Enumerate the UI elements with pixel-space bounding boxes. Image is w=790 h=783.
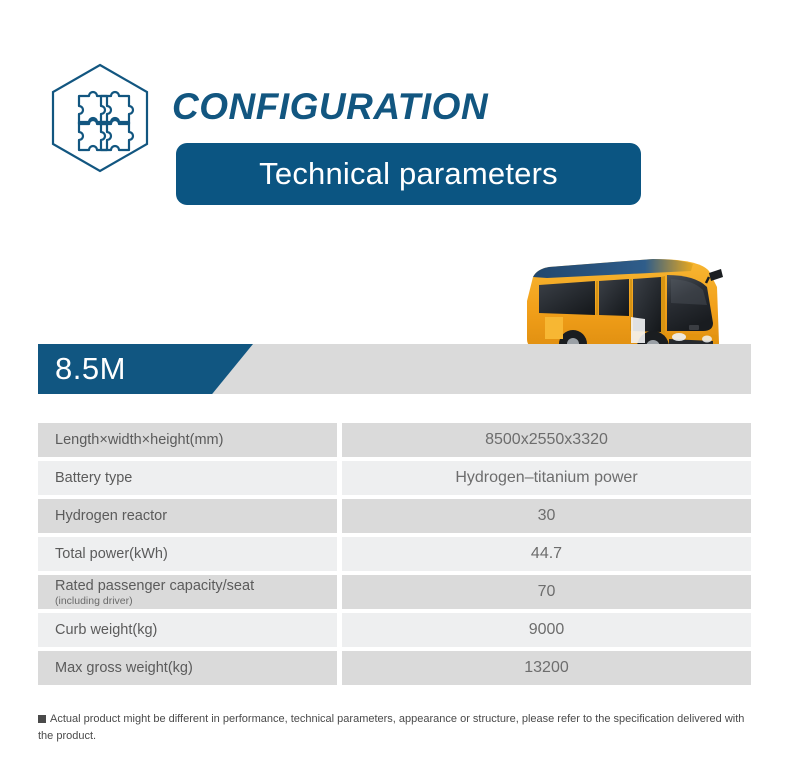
spec-sublabel: (including driver) bbox=[55, 595, 337, 607]
spec-value-cell: 44.7 bbox=[342, 537, 751, 575]
header: CONFIGURATION Technical parameters bbox=[0, 0, 790, 230]
spec-label-cell: Hydrogen reactor bbox=[38, 499, 342, 537]
table-row: Max gross weight(kg) 13200 bbox=[38, 651, 751, 685]
table-row: Rated passenger capacity/seat (including… bbox=[38, 575, 751, 613]
spec-label: Rated passenger capacity/seat bbox=[55, 578, 254, 594]
spec-label-cell: Battery type bbox=[38, 461, 342, 499]
spec-value-cell: 8500x2550x3320 bbox=[342, 423, 751, 461]
spec-value: 30 bbox=[538, 507, 556, 524]
spec-label: Hydrogen reactor bbox=[55, 508, 167, 524]
puzzle-hexagon-icon bbox=[48, 62, 152, 174]
spec-label-cell: Total power(kWh) bbox=[38, 537, 342, 575]
spec-label: Curb weight(kg) bbox=[55, 622, 157, 638]
table-row: Length×width×height(mm) 8500x2550x3320 bbox=[38, 423, 751, 461]
spec-label: Max gross weight(kg) bbox=[55, 660, 193, 676]
spec-value-cell: 13200 bbox=[342, 651, 751, 685]
model-tag: 8.5M bbox=[38, 344, 253, 394]
spec-value-cell: 70 bbox=[342, 575, 751, 613]
footnote-text: Actual product might be different in per… bbox=[38, 713, 744, 742]
spec-value-cell: 30 bbox=[342, 499, 751, 537]
spec-value: 8500x2550x3320 bbox=[485, 431, 608, 448]
spec-label: Total power(kWh) bbox=[55, 546, 168, 562]
table-row: Battery type Hydrogen–titanium power bbox=[38, 461, 751, 499]
model-band: 8.5M bbox=[38, 344, 751, 394]
spec-label-cell: Rated passenger capacity/seat (including… bbox=[38, 575, 342, 613]
footnote: Actual product might be different in per… bbox=[38, 711, 760, 745]
spec-label-cell: Curb weight(kg) bbox=[38, 613, 342, 651]
table-row: Curb weight(kg) 9000 bbox=[38, 613, 751, 651]
spec-value: 9000 bbox=[529, 621, 565, 638]
spec-value: 13200 bbox=[524, 659, 569, 676]
spec-value: 44.7 bbox=[531, 545, 562, 562]
page-title: CONFIGURATION bbox=[172, 86, 488, 128]
spec-table-body: Length×width×height(mm) 8500x2550x3320 B… bbox=[38, 423, 751, 685]
spec-value: Hydrogen–titanium power bbox=[455, 469, 637, 486]
subtitle-banner: Technical parameters bbox=[176, 143, 641, 205]
spec-label: Length×width×height(mm) bbox=[55, 432, 223, 448]
spec-label-cell: Max gross weight(kg) bbox=[38, 651, 342, 685]
model-tag-label: 8.5M bbox=[38, 351, 126, 387]
spec-label: Battery type bbox=[55, 470, 132, 486]
spec-value-cell: Hydrogen–titanium power bbox=[342, 461, 751, 499]
spec-value: 70 bbox=[538, 583, 556, 600]
table-row: Total power(kWh) 44.7 bbox=[38, 537, 751, 575]
subtitle-banner-label: Technical parameters bbox=[259, 156, 558, 192]
spec-value-cell: 9000 bbox=[342, 613, 751, 651]
table-row: Hydrogen reactor 30 bbox=[38, 499, 751, 537]
spec-label-cell: Length×width×height(mm) bbox=[38, 423, 342, 461]
spec-table: Length×width×height(mm) 8500x2550x3320 B… bbox=[38, 423, 751, 685]
square-bullet-icon bbox=[38, 715, 46, 723]
